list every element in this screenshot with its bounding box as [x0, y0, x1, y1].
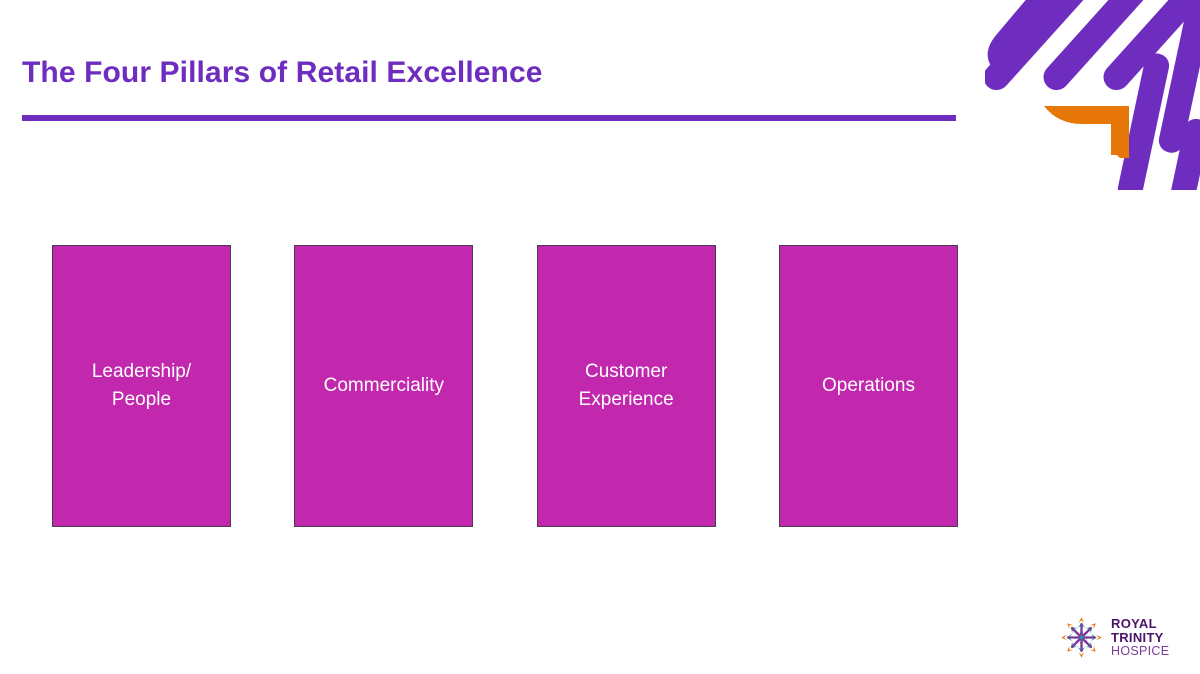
logo-line-royal: ROYAL — [1111, 617, 1169, 630]
royal-trinity-hospice-logo: ROYAL TRINITY HOSPICE — [1058, 612, 1184, 662]
pillar-label: Customer Experience — [573, 358, 680, 414]
logo-wordmark: ROYAL TRINITY HOSPICE — [1111, 617, 1169, 658]
title-underline-rule — [22, 115, 956, 121]
pillar-box-leadership-people[interactable]: Leadership/ People — [52, 245, 231, 527]
page-title: The Four Pillars of Retail Excellence — [22, 56, 543, 90]
pillar-label: Operations — [816, 372, 921, 400]
pillar-label: Leadership/ People — [86, 358, 197, 414]
pillar-box-commerciality[interactable]: Commerciality — [294, 245, 473, 527]
corner-stripes-decoration — [985, 0, 1200, 190]
logo-line-trinity: TRINITY — [1111, 631, 1169, 644]
pillars-row: Leadership/ People Commerciality Custome… — [52, 245, 958, 527]
orange-arrow-shape — [1044, 106, 1129, 158]
logo-line-hospice: HOSPICE — [1111, 645, 1169, 658]
pillar-box-operations[interactable]: Operations — [779, 245, 958, 527]
purple-diagonal-stripes — [985, 0, 1200, 190]
pillar-box-customer-experience[interactable]: Customer Experience — [537, 245, 716, 527]
slide: The Four Pillars of Retail Excellence Le… — [0, 0, 1200, 674]
starburst-icon — [1058, 614, 1105, 661]
pillar-label: Commerciality — [318, 372, 450, 400]
